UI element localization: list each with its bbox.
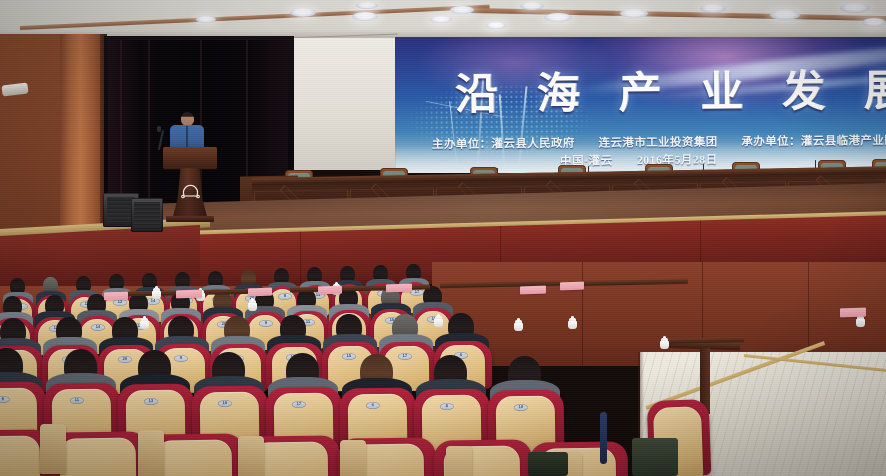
seat-number-plate: 17 [398, 353, 412, 360]
ceiling-downlight [352, 12, 378, 21]
seat-back-panel [156, 439, 233, 476]
seat-armrest [40, 424, 66, 474]
podium-emblem-icon [180, 182, 201, 201]
ceiling-downlight [290, 8, 316, 17]
teacup-with-lid [514, 320, 523, 331]
handout-document[interactable] [104, 292, 128, 301]
seat-number: 13 [148, 400, 153, 404]
handout-document[interactable] [520, 286, 546, 295]
seat-number: 20 [123, 357, 128, 361]
ceiling-downlight [196, 16, 216, 23]
handout-document[interactable] [176, 290, 202, 299]
handout-document[interactable] [318, 286, 342, 295]
ceiling-downlight [840, 3, 870, 13]
seat-number: 15 [222, 401, 227, 405]
seat-number: 10 [518, 406, 523, 410]
seat-number: 11 [75, 399, 79, 403]
seat-number: 9 [265, 321, 267, 325]
ceiling-downlight [700, 4, 726, 13]
handout-document[interactable] [840, 308, 866, 318]
teacup-with-lid [856, 316, 865, 327]
backpack [632, 438, 678, 476]
handout-document[interactable] [248, 288, 272, 297]
seat-number: 14 [151, 300, 156, 304]
umbrella [600, 412, 607, 464]
seat-armrest [138, 430, 164, 476]
ceiling-downlight [486, 22, 506, 29]
ceiling-downlight [544, 13, 572, 22]
seat-armrest [340, 440, 366, 476]
seat-number-plate: 15 [218, 400, 232, 407]
teacup-with-lid [568, 318, 577, 329]
seat-number: 14 [96, 325, 101, 329]
bag [528, 452, 568, 476]
teacup-with-lid [248, 300, 257, 311]
ceiling-downlight [430, 16, 452, 23]
seat-number: 9 [284, 295, 286, 299]
seat-armrest [238, 436, 264, 476]
microphone-head [157, 126, 161, 132]
stage-apron-face [0, 225, 200, 290]
left-wall-panel [0, 34, 62, 249]
seat-number: 9 [180, 357, 182, 361]
seat-number: 17 [296, 402, 301, 406]
seat-number: 15 [347, 355, 352, 359]
banner-headline: 沿 海 产 业 发 展 论 坛 [455, 56, 886, 122]
seat-number: 17 [403, 354, 408, 358]
handout-document[interactable] [386, 284, 412, 293]
seat-armrest [446, 446, 472, 476]
seat-number: 17 [415, 290, 420, 294]
teacup-with-lid [434, 316, 443, 327]
teacup-with-lid [152, 288, 161, 299]
seat-number-plate: 17 [292, 401, 306, 408]
seat-number: 12 [118, 301, 123, 305]
seat-number: 6 [372, 403, 374, 407]
speaker-at-podium [170, 112, 204, 150]
speaker-head [181, 112, 194, 126]
ceiling-downlight [450, 6, 474, 14]
teacup-with-lid [660, 338, 669, 349]
ceiling-downlight [862, 18, 886, 27]
seat-number: 9 [2, 397, 4, 401]
ceiling-downlight [520, 2, 544, 10]
stage-speaker-cabinet [131, 198, 163, 232]
podium-top [163, 147, 217, 169]
ceiling-downlight [620, 9, 648, 18]
podium-base [166, 216, 214, 222]
seat-number: 8 [446, 405, 448, 409]
teacup-with-lid [140, 318, 149, 329]
conference-hall-photo: 沿 海 产 业 发 展 论 坛 主办单位：灌云县人民政府 连云港市工业投资集团 … [0, 0, 886, 476]
seat-number-plate: 20 [118, 356, 132, 363]
handout-document[interactable] [560, 282, 584, 291]
ceiling-downlight [356, 2, 378, 9]
house-side-wall-right [432, 262, 886, 366]
seat-back-panel [60, 437, 137, 476]
seat-back-panel [0, 435, 40, 476]
ceiling-downlight [770, 10, 800, 20]
seat-number: 11 [306, 320, 310, 324]
